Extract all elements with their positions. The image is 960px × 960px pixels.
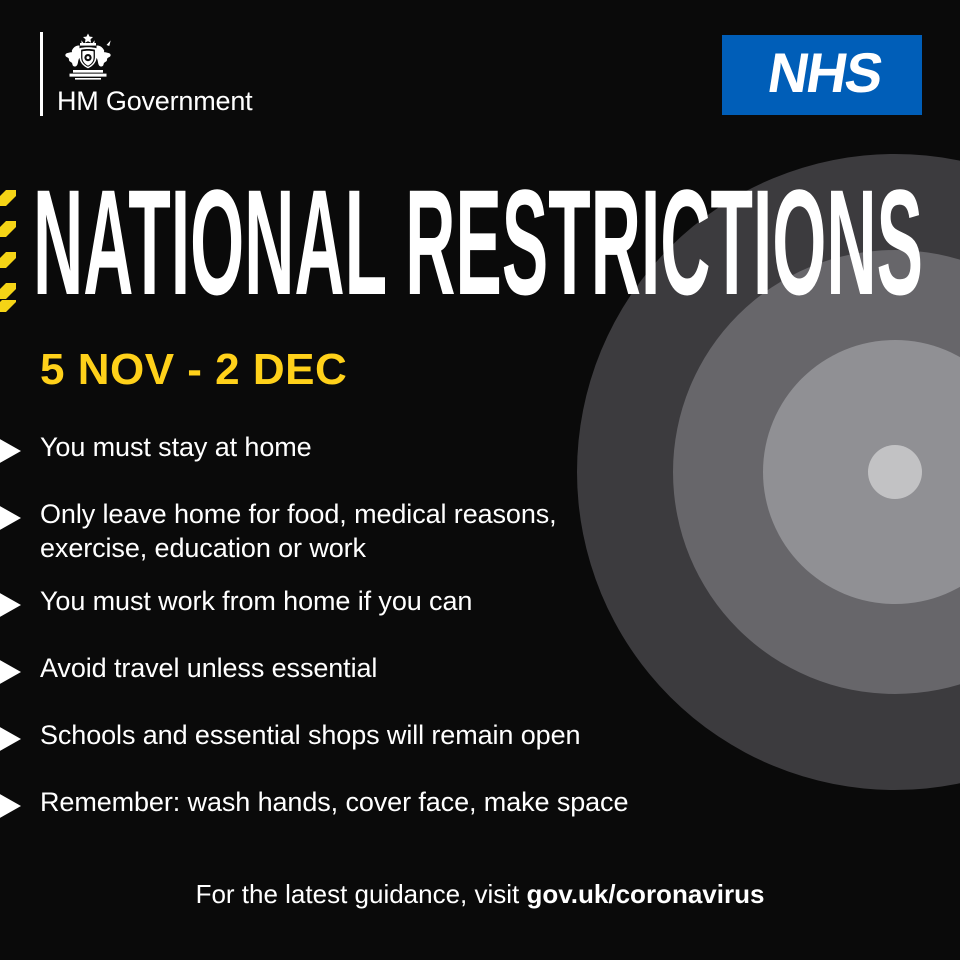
list-item-label: Only leave home for food, medical reason… xyxy=(40,497,640,565)
list-item-label: Schools and essential shops will remain … xyxy=(40,718,640,752)
list-item: Avoid travel unless essential xyxy=(0,651,640,699)
list-item-label: You must stay at home xyxy=(40,430,640,464)
arrow-bullet-icon xyxy=(0,588,21,622)
svg-text:NHS: NHS xyxy=(764,46,887,104)
covid-restrictions-poster: HM Government NHS NATIONAL RESTRICTIONS xyxy=(0,0,960,960)
restrictions-list: You must stay at home Only leave home fo… xyxy=(0,430,640,852)
list-item: You must stay at home xyxy=(0,430,640,478)
nhs-logo: NHS xyxy=(722,35,922,115)
poster-header: HM Government NHS xyxy=(0,0,960,150)
footer-guidance: For the latest guidance, visit gov.uk/co… xyxy=(0,878,960,910)
royal-coat-of-arms-icon xyxy=(57,32,119,84)
arrow-bullet-icon xyxy=(0,655,21,689)
arrow-bullet-icon xyxy=(0,501,21,535)
date-range: 5 NOV - 2 DEC xyxy=(40,345,347,395)
arrow-bullet-icon xyxy=(0,434,21,468)
list-item: Remember: wash hands, cover face, make s… xyxy=(0,785,640,833)
list-item: Schools and essential shops will remain … xyxy=(0,718,640,766)
list-item: You must work from home if you can xyxy=(0,584,640,632)
list-item: Only leave home for food, medical reason… xyxy=(0,497,640,565)
hazard-stripes-icon xyxy=(0,190,16,312)
hm-government-wordmark: HM Government xyxy=(57,86,252,116)
arrow-bullet-icon xyxy=(0,722,21,756)
nhs-lettermark-icon: NHS xyxy=(732,46,912,104)
list-item-label: Remember: wash hands, cover face, make s… xyxy=(40,785,640,819)
logo-vertical-rule xyxy=(40,32,43,116)
page-title: NATIONAL RESTRICTIONS xyxy=(33,178,933,314)
list-item-label: Avoid travel unless essential xyxy=(40,651,640,685)
hm-government-logo: HM Government xyxy=(40,32,252,116)
arrow-bullet-icon xyxy=(0,789,21,823)
footer-url[interactable]: gov.uk/coronavirus xyxy=(527,879,765,909)
footer-lead-text: For the latest guidance, visit xyxy=(196,879,527,909)
page-title-text: NATIONAL RESTRICTIONS xyxy=(33,178,923,314)
list-item-label: You must work from home if you can xyxy=(40,584,640,618)
